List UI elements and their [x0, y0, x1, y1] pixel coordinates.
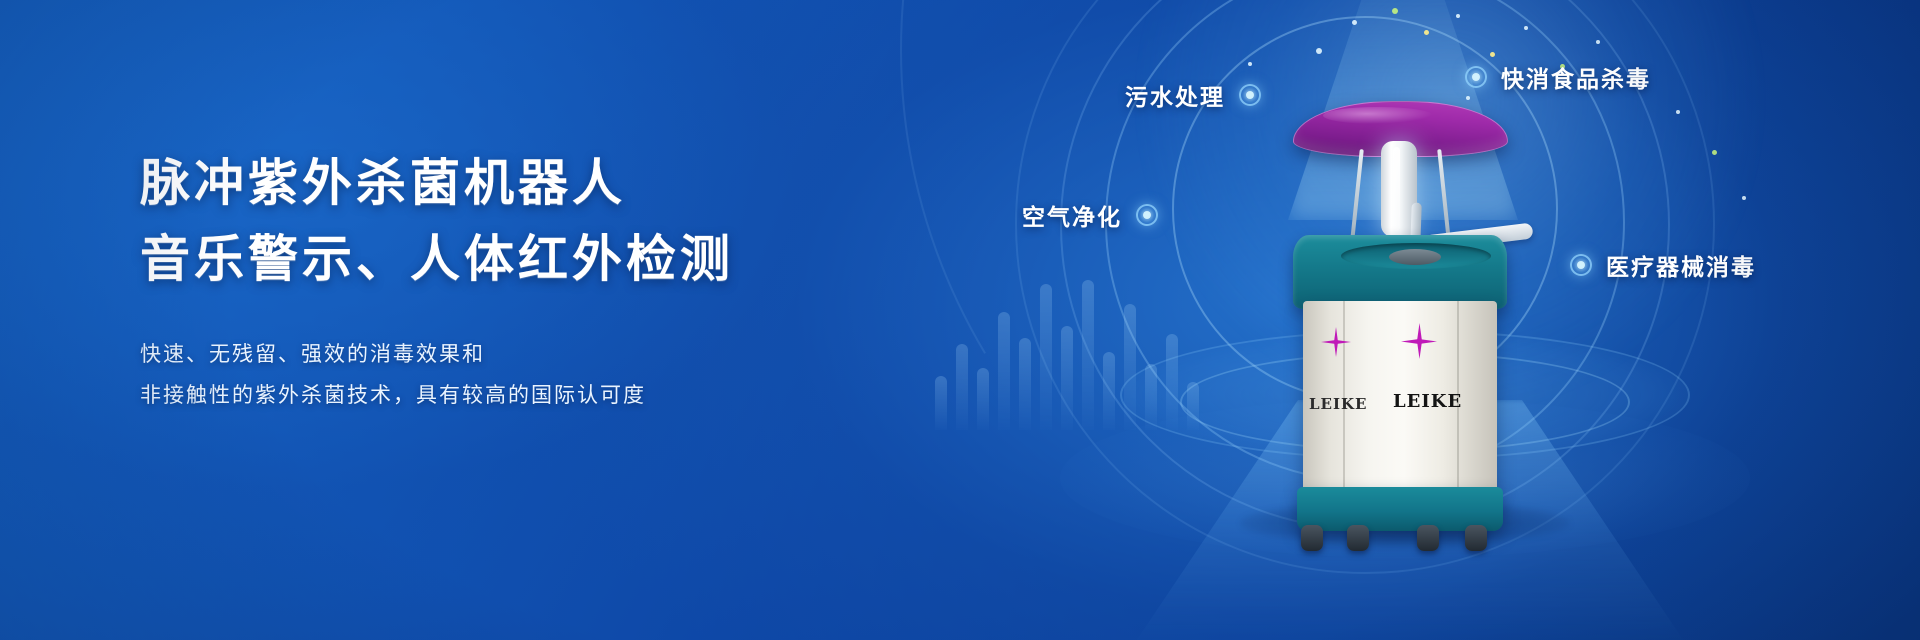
product-banner: 脉冲紫外杀菌机器人 音乐警示、人体红外检测 快速、无残留、强效的消毒效果和 非接…	[0, 0, 1920, 640]
node-marker-icon	[1465, 66, 1487, 88]
caster-wheel	[1301, 525, 1323, 551]
dome-highlight	[1323, 107, 1433, 124]
subtitle-line-2: 非接触性的紫外杀菌技术，具有较高的国际认可度	[140, 375, 860, 416]
particle-dot	[1352, 20, 1357, 25]
headline-line-2: 音乐警示、人体红外检测	[140, 226, 860, 292]
particle-dot	[1456, 14, 1460, 18]
feature-medical-device-disinfection[interactable]: 医疗器械消毒	[1570, 248, 1756, 282]
particle-dot	[1490, 52, 1495, 57]
particle-dot	[1712, 150, 1717, 155]
lamp-support-rod	[1350, 149, 1364, 241]
particle-dot	[1524, 26, 1528, 30]
brand-text-left: LEIKE	[1309, 395, 1367, 413]
feature-food-disinfection[interactable]: 快消食品杀毒	[1465, 60, 1651, 94]
particle-dot	[1248, 62, 1252, 66]
caster-wheel	[1417, 525, 1439, 551]
node-marker-icon	[1570, 254, 1592, 276]
top-hub	[1389, 249, 1441, 265]
device-top-housing	[1293, 235, 1507, 309]
subtitle-line-1: 快速、无残留、强效的消毒效果和	[140, 334, 860, 375]
uv-disinfection-robot: LEIKE LEIKE	[1275, 95, 1525, 515]
headline-block: 脉冲紫外杀菌机器人 音乐警示、人体红外检测 快速、无残留、强效的消毒效果和 非接…	[140, 150, 860, 416]
feature-label: 医疗器械消毒	[1606, 248, 1756, 282]
caster-wheel	[1465, 525, 1487, 551]
feature-air-purification[interactable]: 空气净化	[1022, 198, 1158, 232]
node-marker-icon	[1239, 84, 1261, 106]
brand-star-icon	[1321, 327, 1351, 357]
node-marker-icon	[1136, 204, 1158, 226]
particle-dot	[1676, 110, 1680, 114]
feature-label: 污水处理	[1125, 78, 1225, 112]
feature-label: 快消食品杀毒	[1501, 60, 1651, 94]
particle-dot	[1316, 48, 1322, 54]
lamp-support-rod	[1437, 149, 1451, 241]
particle-dot	[1424, 30, 1429, 35]
caster-wheel	[1347, 525, 1369, 551]
particle-dot	[1392, 8, 1398, 14]
headline-line-1: 脉冲紫外杀菌机器人	[140, 150, 860, 216]
brand-text-right: LEIKE	[1393, 391, 1462, 412]
particle-dot	[1596, 40, 1600, 44]
feature-sewage-treatment[interactable]: 污水处理	[1125, 78, 1261, 112]
brand-star-icon	[1401, 323, 1437, 359]
feature-label: 空气净化	[1022, 198, 1122, 232]
particle-dot	[1742, 196, 1746, 200]
subtitle-block: 快速、无残留、强效的消毒效果和 非接触性的紫外杀菌技术，具有较高的国际认可度	[140, 334, 860, 416]
